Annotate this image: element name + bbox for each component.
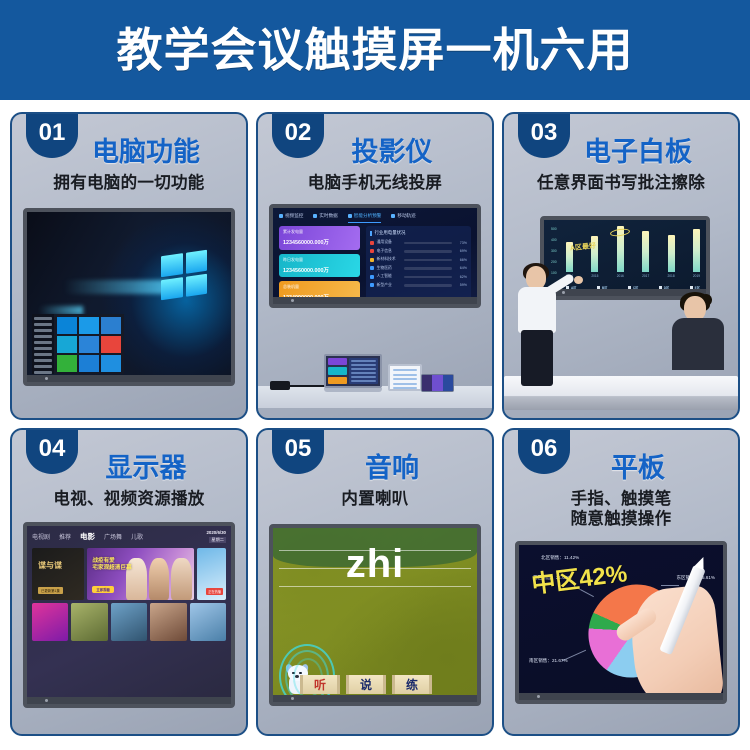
page-banner: 教学会议触摸屏一机六用: [0, 0, 750, 100]
stat-label: 昨日发电量: [283, 257, 356, 263]
bar-row: 生物医药 64%: [370, 266, 467, 271]
pinyin-button-listen[interactable]: 听: [303, 675, 337, 694]
bar-x-label: 2016: [617, 274, 624, 278]
card-subtitle-line-2: 随意触摸操作: [571, 510, 672, 528]
bar-panel-title: 行业用电量状况: [370, 230, 467, 236]
hero-tag: 已更新第1集: [38, 587, 63, 594]
stat-value: 1234560000.000万: [283, 238, 356, 246]
y-tick: 300: [551, 249, 557, 253]
bar-track: [404, 250, 452, 253]
display-panel: zhi 听 说: [269, 524, 481, 706]
bar-label: 生物医药: [377, 266, 401, 271]
tv-nav-item-2[interactable]: 电影: [80, 531, 95, 542]
laptop-screen-right: [349, 358, 378, 384]
card-number-badge: 02: [272, 112, 324, 158]
panel-bezel-bottom: [273, 695, 477, 702]
bar-track: [404, 276, 452, 279]
card-subtitle: 拥有电脑的一切功能: [53, 173, 204, 193]
bar-percent: 69%: [455, 249, 467, 253]
tab-label: 实时数据: [319, 213, 337, 219]
feature-card-03[interactable]: 03 电子白板 任意界面书写批注擦除 500 400 300 200 100 2…: [502, 112, 740, 420]
dashboard-tab-3[interactable]: 移动轨迹: [391, 213, 415, 219]
bar-x-label: 2019: [693, 274, 700, 278]
tv-weekday: 星期二: [209, 537, 226, 543]
whiteboard-screen: 500 400 300 200 100 2014 2015 2016 2017 …: [544, 220, 706, 296]
tv-nav-bar[interactable]: 电视剧 推荐 电影 广场舞 儿歌 2020/6/30 星期二: [32, 530, 226, 543]
dongle-cable: [290, 385, 326, 387]
tv-hero-card-b[interactable]: 战疫有爱 宅家观超清巨幕 立即观看: [87, 548, 194, 600]
hero-characters: [126, 548, 192, 600]
card-number-badge: 05: [272, 428, 324, 474]
card-number-badge: 03: [518, 112, 570, 158]
bar-row: 通用设备 73%: [370, 240, 467, 245]
dashboard-stat-cards: 累计发电量 1234560000.000万 昨日发电量 1234560000.0…: [279, 226, 360, 304]
bar-label: 电子信息: [377, 249, 401, 254]
hero-side-tag: 正在热播: [206, 588, 223, 595]
chart-bar: 2017: [642, 231, 649, 278]
card-number-badge: 01: [26, 112, 78, 158]
display-panel: 视频监控 实时数据 智能分析预警 移动轨迹 累计发电量 1234560000.0…: [269, 204, 481, 308]
tv-home-screen: 电视剧 推荐 电影 广场舞 儿歌 2020/6/30 星期二 谍与谍: [27, 526, 231, 704]
bar-dot-icon: [370, 283, 374, 287]
bar-row: 人工智能 62%: [370, 274, 467, 279]
pinyin-board-screen: zhi 听 说: [273, 528, 477, 702]
pinyin-word: zhi: [346, 544, 405, 584]
windows-logo-icon: [161, 250, 207, 300]
start-menu-tiles: [54, 314, 124, 374]
chart-bar: 2019: [693, 229, 700, 278]
tv-nav-item-3[interactable]: 广场舞: [104, 532, 122, 541]
bar-dot-icon: [370, 241, 374, 245]
tv-nav-item-4[interactable]: 儿歌: [131, 532, 143, 541]
bar-percent: 62%: [455, 275, 467, 279]
card-subtitle: 手指、触摸笔 随意触摸操作: [571, 489, 672, 529]
bar-label: 人工智能: [377, 274, 401, 279]
hero-watch-button[interactable]: 立即观看: [92, 586, 114, 593]
bar-x-label: 2017: [642, 274, 649, 278]
card-number-badge: 04: [26, 428, 78, 474]
feature-card-01[interactable]: 01 电脑功能 拥有电脑的一切功能: [10, 112, 248, 420]
dashboard-tab-1[interactable]: 实时数据: [313, 213, 337, 219]
stat-label: 累计发电量: [283, 229, 356, 235]
chart-bars: 2014 2015 2016 2017 2018 2019: [566, 228, 700, 278]
device-group: [266, 354, 484, 408]
tab-label: 智能分析预警: [354, 213, 382, 219]
y-tick: 500: [551, 227, 557, 231]
tv-date-block: 2020/6/30 星期二: [206, 530, 226, 543]
feature-card-grid: 01 电脑功能 拥有电脑的一切功能: [0, 100, 750, 750]
tab-label: 视频监控: [285, 213, 303, 219]
tv-thumbnail[interactable]: [32, 603, 68, 641]
bar-track: [404, 242, 452, 245]
tab-icon: [313, 214, 317, 218]
bar-dot-icon: [370, 249, 374, 253]
card-subtitle: 电脑手机无线投屏: [308, 173, 442, 193]
bar-row: 电子信息 69%: [370, 249, 467, 254]
display-panel: 500 400 300 200 100 2014 2015 2016 2017 …: [540, 216, 710, 300]
card-image-tablet: 北区销售：11.42% 西区销售：21.00% 南区销售：21.67% 东区销售…: [512, 537, 730, 724]
bar-percent: 59%: [455, 283, 467, 287]
page-title: 教学会议触摸屏一机六用: [117, 27, 634, 73]
y-tick: 400: [551, 238, 557, 242]
leader-line: [661, 585, 679, 586]
dashboard-bar-panel: 行业用电量状况 通用设备 73% 电子信息 6: [366, 226, 471, 304]
feature-card-04[interactable]: 04 显示器 电视、视频资源播放 电视剧 推荐 电影 广场舞 儿歌 2020/6…: [10, 428, 248, 736]
display-panel: 电视剧 推荐 电影 广场舞 儿歌 2020/6/30 星期二 谍与谍: [23, 522, 235, 708]
panel-title-text: 行业用电量状况: [375, 230, 406, 236]
tv-hero-card-c[interactable]: 正在热播: [197, 548, 226, 600]
y-tick: 200: [551, 260, 557, 264]
tv-thumbnail[interactable]: [111, 603, 147, 641]
feature-card-06[interactable]: 06 平板 手指、触摸笔 随意触摸操作 北区销售：11.42% 西区销售：21.…: [502, 428, 740, 736]
laptop-device: [324, 354, 382, 392]
light-ray: [64, 280, 170, 294]
hero-promo-text: 战疫有爱 宅家观超清巨幕: [92, 558, 131, 572]
tab-icon: [279, 214, 283, 218]
tv-thumbnail[interactable]: [71, 603, 107, 641]
bar-x-label: 2018: [668, 274, 675, 278]
dashboard-tab-0[interactable]: 视频监控: [279, 213, 303, 219]
person-body: [672, 318, 724, 370]
promo-line-2: 宅家观超清巨幕: [92, 565, 131, 571]
pinyin-button-speak[interactable]: 说: [349, 675, 383, 694]
bar-dot-icon: [370, 258, 374, 262]
laptop-screen-left: [328, 358, 347, 384]
card-title: 显示器: [106, 454, 187, 482]
pinyin-buttons[interactable]: 听 说 练: [303, 675, 429, 694]
card-number-badge: 06: [518, 428, 570, 474]
phone-device: [421, 374, 454, 392]
bar-label: 新型产业: [377, 283, 401, 288]
power-indicator: [537, 695, 540, 698]
card-image-pinyin: zhi 听 说: [266, 516, 484, 724]
card-subtitle: 电视、视频资源播放: [53, 489, 204, 509]
card-title: 电子白板: [584, 138, 692, 166]
bar-track: [404, 259, 452, 262]
stat-label: 总装机量: [283, 284, 356, 290]
tv-thumbnail[interactable]: [150, 603, 186, 641]
tablet-device: [388, 364, 422, 391]
tv-date: 2020/6/30: [206, 530, 226, 535]
presenter-person: [514, 266, 560, 386]
stat-card: 昨日发电量 1234560000.000万: [279, 254, 360, 277]
card-image-tv: 电视剧 推荐 电影 广场舞 儿歌 2020/6/30 星期二 谍与谍: [20, 516, 238, 724]
power-indicator: [45, 377, 48, 380]
power-indicator: [291, 299, 294, 302]
dashboard-screen: 视频监控 实时数据 智能分析预警 移动轨迹 累计发电量 1234560000.0…: [273, 208, 477, 304]
tab-label: 移动轨迹: [397, 213, 415, 219]
card-title: 平板: [611, 454, 665, 482]
bar-percent: 73%: [455, 241, 467, 245]
tv-nav-item-0[interactable]: 电视剧: [32, 532, 50, 541]
card-subtitle: 任意界面书写批注擦除: [537, 173, 705, 193]
power-indicator: [291, 697, 294, 700]
bar-stick: [668, 235, 675, 272]
feature-card-02[interactable]: 02 投影仪 电脑手机无线投屏 视频监控 实时数据 智能分析预警 移动轨迹 累计…: [256, 112, 494, 420]
bar-track: [404, 284, 452, 287]
start-menu[interactable]: [32, 314, 124, 374]
power-indicator: [45, 699, 48, 702]
seated-person: [670, 292, 728, 388]
wireless-dongle: [270, 381, 290, 390]
card-title: 电脑功能: [92, 138, 200, 166]
card-image-windows: [20, 200, 238, 408]
tab-icon: [391, 214, 395, 218]
promo-line-1: 战疫有爱: [92, 558, 114, 564]
card-title: 音响: [365, 454, 419, 482]
card-image-whiteboard: 500 400 300 200 100 2014 2015 2016 2017 …: [512, 200, 730, 408]
display-panel: 北区销售：11.42% 西区销售：21.00% 南区销售：21.67% 东区销售…: [515, 541, 727, 704]
card-title: 投影仪: [352, 138, 433, 166]
bar-percent: 64%: [455, 266, 467, 270]
stat-card: 累计发电量 1234560000.000万: [279, 226, 360, 249]
tv-hero-card-a[interactable]: 谍与谍 已更新第1集: [32, 548, 84, 600]
stat-value: 1234560000.000万: [283, 266, 356, 274]
bar-label: 通用设备: [377, 240, 401, 245]
tv-thumbnail-row: [32, 603, 226, 641]
bar-dot-icon: [370, 275, 374, 279]
bar-row: 新型产业 59%: [370, 283, 467, 288]
tv-hero-row: 谍与谍 已更新第1集 战疫有爱 宅家观超清巨幕: [32, 548, 226, 600]
bar-stick: [693, 229, 700, 272]
title-accent-bar: [370, 231, 372, 236]
bar-row: 新材料技术 66%: [370, 257, 467, 262]
bar-percent: 66%: [455, 258, 467, 262]
dashboard-tab-2[interactable]: 智能分析预警: [348, 213, 382, 219]
writing-line: [279, 586, 471, 587]
bar-stick: [642, 231, 649, 272]
person-head: [526, 266, 546, 289]
panel-bezel-bottom: [27, 375, 231, 382]
bar-dot-icon: [370, 266, 374, 270]
panel-bezel-bottom: [519, 693, 723, 700]
tv-thumbnail[interactable]: [190, 603, 226, 641]
start-menu-list: [32, 314, 54, 374]
person-legs: [521, 330, 553, 386]
chart-bar: 2018: [668, 235, 675, 278]
bar-label: 新材料技术: [377, 257, 401, 262]
tab-icon: [348, 214, 352, 218]
hero-title: 谍与谍: [38, 562, 62, 570]
dashboard-tabs[interactable]: 视频监控 实时数据 智能分析预警 移动轨迹: [279, 213, 471, 219]
display-panel: [23, 208, 235, 386]
card-subtitle: 内置喇叭: [341, 489, 408, 509]
laptop-screen: [324, 354, 382, 388]
power-indicator: [562, 291, 565, 294]
pie-chart-screen: 北区销售：11.42% 西区销售：21.00% 南区销售：21.67% 东区销售…: [519, 545, 723, 700]
panel-bezel-bottom: [273, 297, 477, 304]
laptop-base: [324, 388, 382, 392]
tv-nav-item-1[interactable]: 推荐: [59, 532, 71, 541]
panel-bezel-bottom: [27, 697, 231, 704]
feature-card-05[interactable]: 05 音响 内置喇叭 zhi: [256, 428, 494, 736]
bar-x-label: 2015: [591, 274, 598, 278]
leader-line: [562, 650, 586, 661]
pinyin-button-practice[interactable]: 练: [395, 675, 429, 694]
bar-track: [404, 267, 452, 270]
card-image-projection: 视频监控 实时数据 智能分析预警 移动轨迹 累计发电量 1234560000.0…: [266, 200, 484, 408]
dashboard-body: 累计发电量 1234560000.000万 昨日发电量 1234560000.0…: [279, 226, 471, 304]
card-subtitle-line-1: 手指、触摸笔: [571, 490, 672, 508]
